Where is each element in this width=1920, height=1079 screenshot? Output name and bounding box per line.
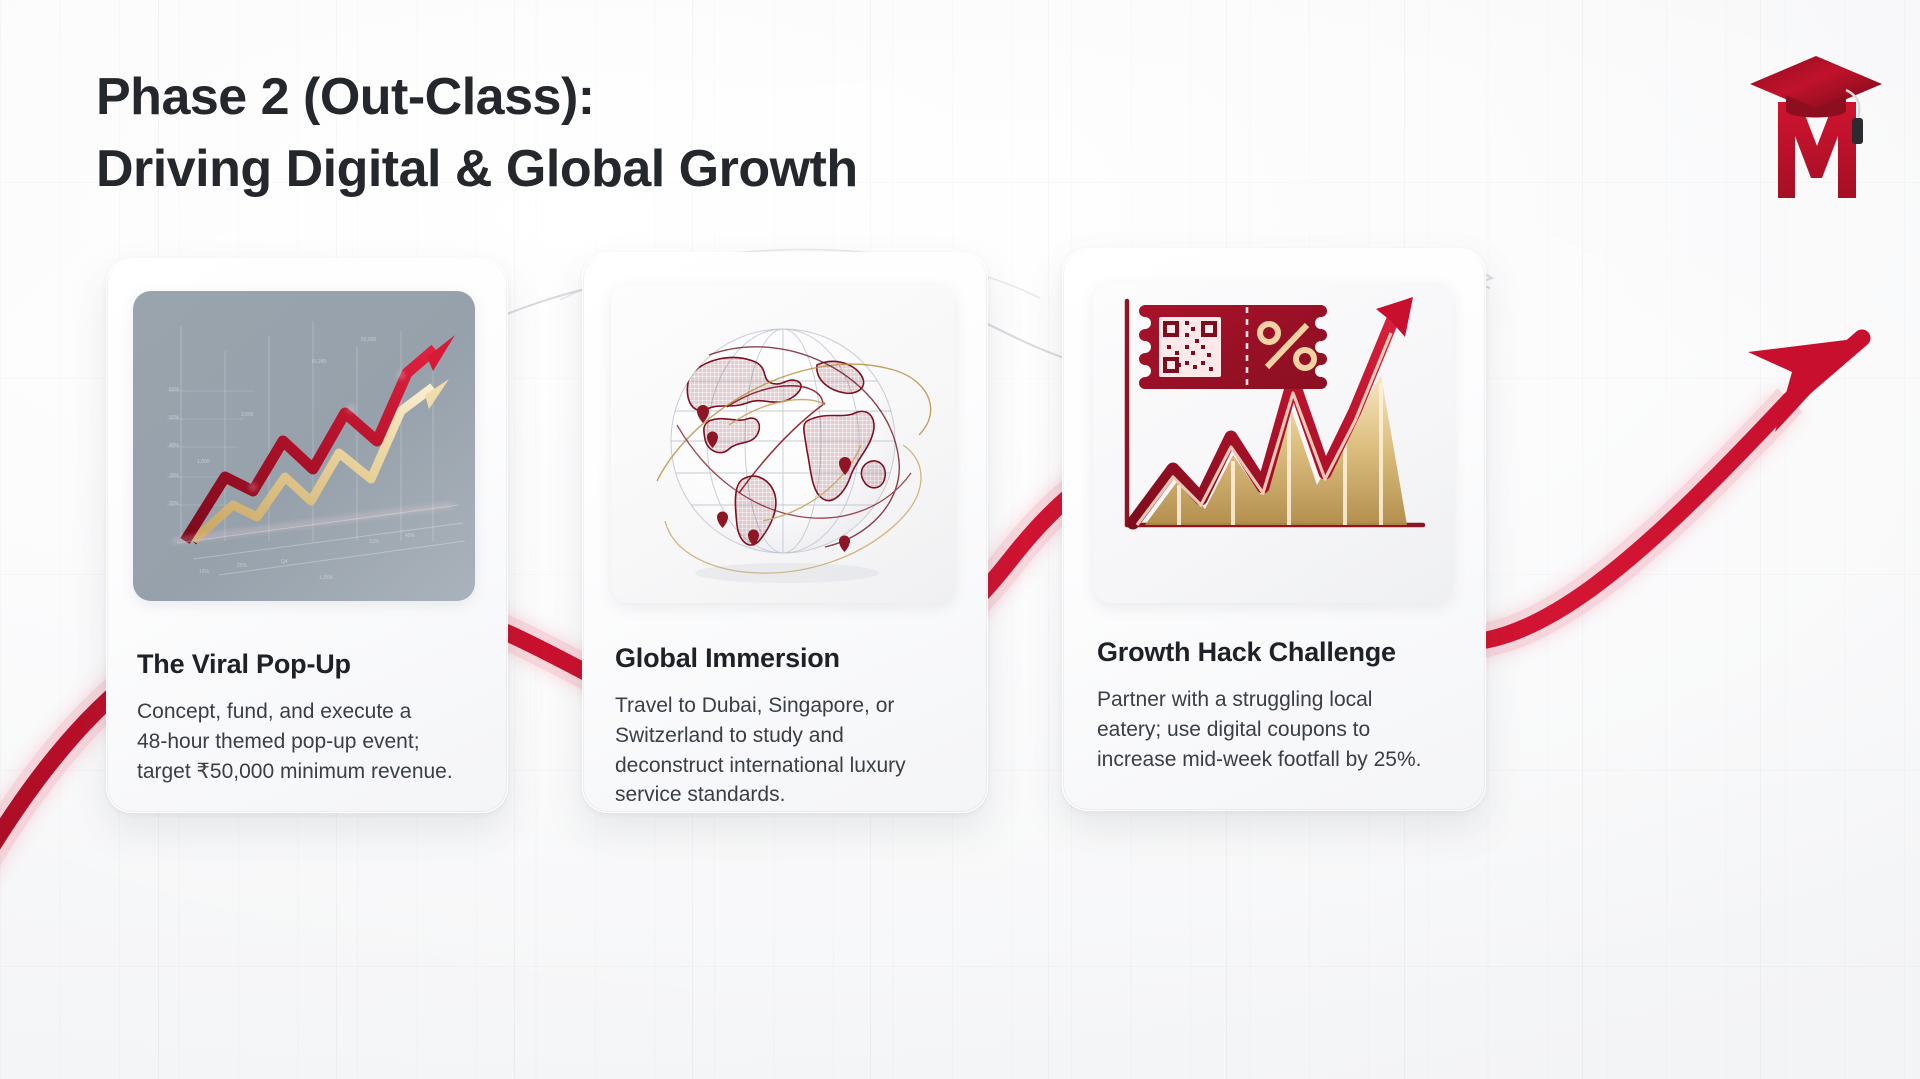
- svg-text:45%: 45%: [405, 533, 416, 539]
- card-2-title: Global Immersion: [615, 643, 840, 674]
- svg-text:60%: 60%: [169, 387, 180, 393]
- svg-text:18%: 18%: [199, 569, 210, 575]
- svg-text:31%: 31%: [369, 539, 380, 545]
- svg-text:20%: 20%: [169, 501, 180, 507]
- card-3-title: Growth Hack Challenge: [1097, 637, 1396, 668]
- svg-text:30%: 30%: [169, 473, 180, 479]
- card-global-immersion[interactable]: Global Immersion Travel to Dubai, Singap…: [582, 252, 988, 813]
- card-the-viral-pop-up[interactable]: 60%50% 40%30% 20% 3,00010,245 50,0001,00…: [106, 258, 508, 813]
- slide-canvas: 60%50% 40%30% 20% 3,00010,245 50,0001,00…: [0, 0, 1920, 1079]
- svg-text:40%: 40%: [169, 443, 180, 449]
- wireframe-globe-illustration: [611, 285, 955, 603]
- page-title: Phase 2 (Out-Class): Driving Digital & G…: [96, 62, 858, 206]
- svg-text:1,000: 1,000: [197, 459, 210, 465]
- card-3-media: [1093, 283, 1453, 603]
- card-1-media: 60%50% 40%30% 20% 3,00010,245 50,0001,00…: [133, 291, 475, 601]
- graduation-cap-m-logo: [1726, 28, 1906, 208]
- svg-text:10,245: 10,245: [311, 359, 327, 365]
- card-growth-hack-challenge[interactable]: Growth Hack Challenge Partner with a str…: [1062, 248, 1486, 811]
- card-2-description: Travel to Dubai, Singapore, or Switzerla…: [615, 691, 967, 810]
- svg-text:Q4: Q4: [281, 559, 288, 565]
- svg-text:25%: 25%: [237, 563, 248, 569]
- svg-text:1,25%: 1,25%: [319, 575, 334, 581]
- card-1-title: The Viral Pop-Up: [137, 649, 351, 680]
- coupon-qr-growth-chart-illustration: [1093, 283, 1453, 603]
- svg-text:50%: 50%: [169, 415, 180, 421]
- ascending-growth-chart-illustration: 60%50% 40%30% 20% 3,00010,245 50,0001,00…: [133, 291, 475, 601]
- card-3-description: Partner with a struggling local eatery; …: [1097, 685, 1465, 774]
- card-1-description: Concept, fund, and execute a 48-hour the…: [137, 697, 485, 786]
- svg-text:50,000: 50,000: [361, 337, 377, 343]
- card-2-media: [611, 285, 955, 603]
- svg-text:3,000: 3,000: [241, 412, 254, 418]
- logo-graphic: [1726, 28, 1906, 208]
